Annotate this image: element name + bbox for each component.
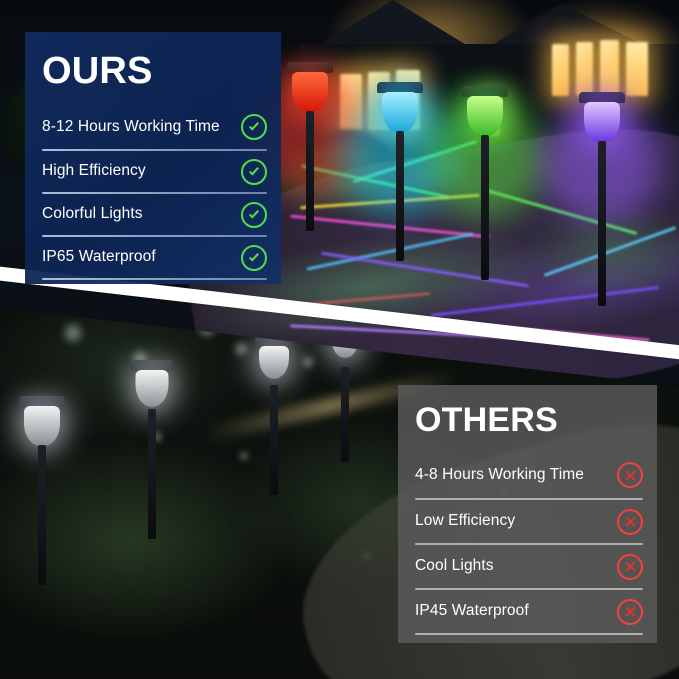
x-icon <box>617 599 643 625</box>
others-feature-row-1: 4-8 Hours Working Time <box>415 452 643 500</box>
check-icon <box>241 114 267 140</box>
ours-feature-label: 8-12 Hours Working Time <box>42 118 241 136</box>
ours-feature-label: High Efficiency <box>42 162 241 180</box>
ours-feature-list: 8-12 Hours Working Time High Efficiency <box>25 105 281 280</box>
x-icon <box>617 509 643 535</box>
ours-feature-label: IP65 Waterproof <box>42 248 241 266</box>
ours-feature-label: Colorful Lights <box>42 205 241 223</box>
ours-panel: OURS 8-12 Hours Working Time High Effici… <box>25 32 281 284</box>
others-feature-label: Low Efficiency <box>415 512 617 530</box>
ours-feature-row-4: IP65 Waterproof <box>42 237 267 280</box>
check-icon <box>241 159 267 185</box>
others-feature-row-3: Cool Lights <box>415 545 643 590</box>
comparison-infographic: OURS 8-12 Hours Working Time High Effici… <box>0 0 679 679</box>
others-feature-label: Cool Lights <box>415 557 617 575</box>
x-icon <box>617 554 643 580</box>
x-icon <box>617 462 643 488</box>
others-feature-list: 4-8 Hours Working Time Low Efficiency <box>398 452 657 635</box>
others-feature-label: IP45 Waterproof <box>415 602 617 620</box>
row-divider <box>42 278 267 280</box>
check-icon <box>241 202 267 228</box>
others-title: OTHERS <box>415 401 657 440</box>
others-panel: OTHERS 4-8 Hours Working Time Low Effici… <box>398 385 657 643</box>
ours-title: OURS <box>42 50 281 93</box>
ours-feature-row-3: Colorful Lights <box>42 194 267 237</box>
row-divider <box>415 633 643 635</box>
others-feature-row-4: IP45 Waterproof <box>415 590 643 635</box>
ours-feature-row-1: 8-12 Hours Working Time <box>42 105 267 151</box>
ours-feature-row-2: High Efficiency <box>42 151 267 194</box>
others-feature-row-2: Low Efficiency <box>415 500 643 545</box>
check-icon <box>241 245 267 271</box>
others-feature-label: 4-8 Hours Working Time <box>415 466 617 484</box>
